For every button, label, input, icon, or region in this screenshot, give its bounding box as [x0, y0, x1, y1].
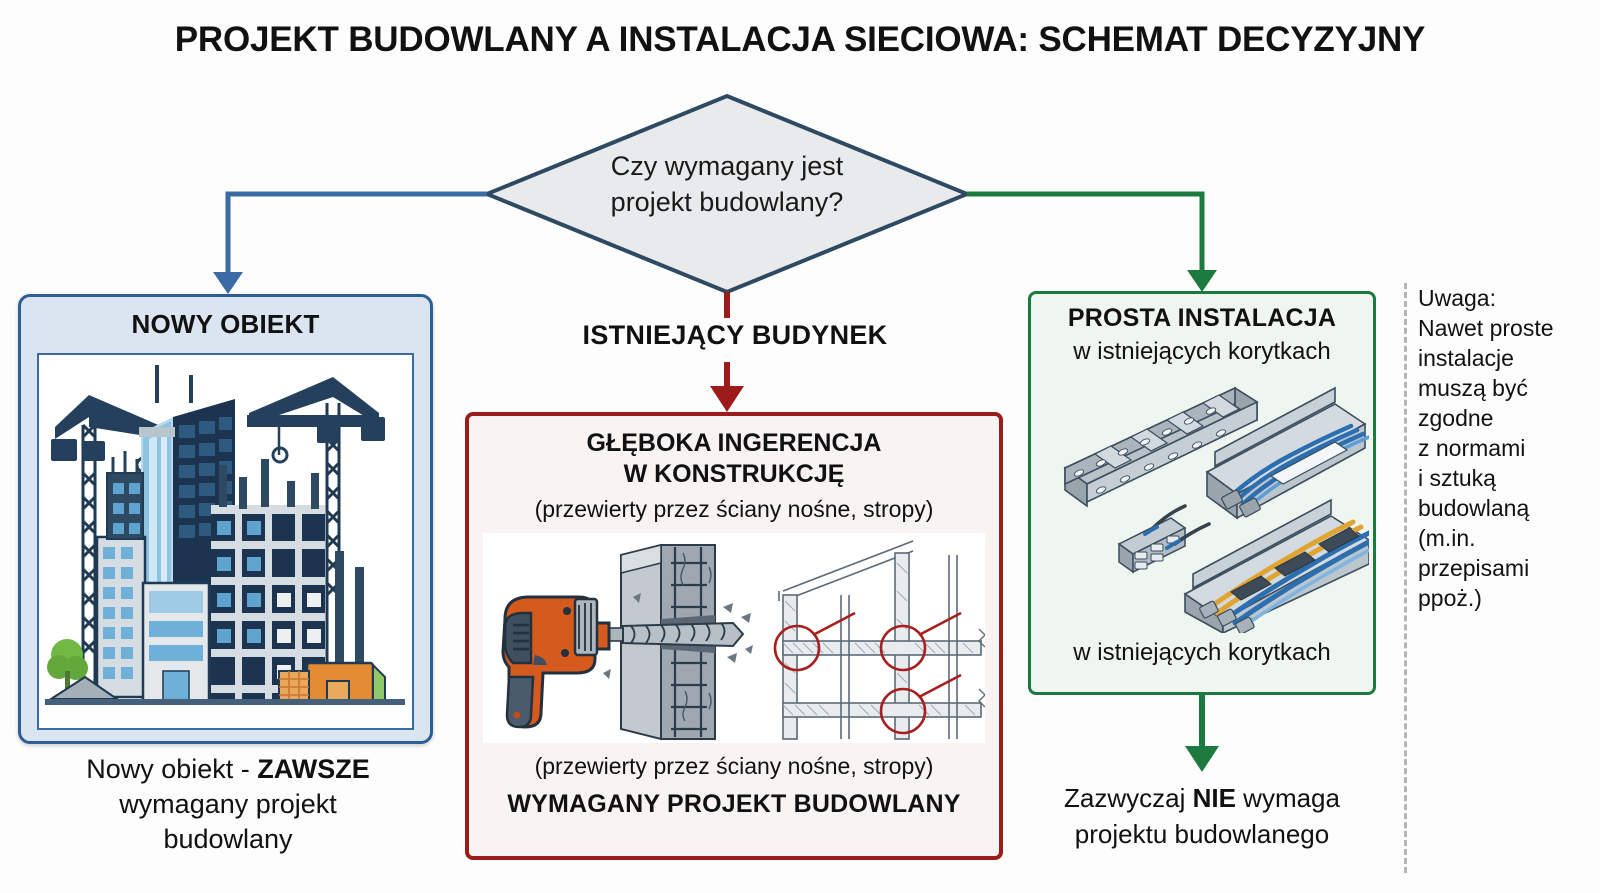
branch-simple-installation-caption: Zazwyczaj NIE wymaga projektu budowlaneg… [1014, 780, 1390, 852]
page-title: PROJEKT BUDOWLANY A INSTALACJA SIECIOWA:… [0, 20, 1600, 60]
green-caption-plain-1: Zazwyczaj [1064, 783, 1193, 813]
caption-text-bold: ZAWSZE [257, 754, 370, 784]
cable-tray-ladder-with-cables-icon [1035, 376, 1369, 633]
decision-question-line2: projekt budowlany? [487, 184, 967, 220]
branch-simple-installation-panel: PROSTA INSTALACJA w istniejących korytka… [1028, 291, 1376, 695]
branch-deep-intervention-verdict: WYMAGANY PROJEKT BUDOWLANY [469, 790, 999, 819]
note-line: budowlaną [1418, 493, 1596, 523]
decision-diamond: Czy wymagany jest projekt budowlany? [487, 96, 967, 292]
note-divider [1404, 283, 1407, 873]
connector-middle-red [710, 292, 744, 412]
branch-deep-intervention-footer-note: (przewierty przez ściany nośne, stropy) [469, 753, 999, 780]
caption-line-2: wymagany projekt [8, 787, 448, 822]
note-block: Uwaga: Nawet proste instalacje muszą być… [1418, 283, 1596, 613]
green-caption-plain-2: wymaga [1236, 783, 1340, 813]
connector-green-to-caption [1185, 695, 1219, 772]
branch-simple-installation-title: PROSTA INSTALACJA [1031, 304, 1373, 333]
note-line: (m.in. [1418, 523, 1596, 553]
note-line: Uwaga: [1418, 283, 1596, 313]
caption-text-plain: Nowy obiekt - [86, 754, 257, 784]
green-caption-line-2: projektu budowlanego [1014, 816, 1390, 852]
note-line: Nawet proste [1418, 313, 1596, 343]
note-line: zgodne [1418, 403, 1596, 433]
branch-deep-intervention-title: GŁĘBOKA INGERENCJA W KONSTRUKCJĘ [469, 428, 999, 490]
construction-site-with-cranes-icon [39, 355, 412, 728]
drilling-illustration-frame [483, 533, 985, 743]
cable-tray-illustration-frame [1035, 376, 1369, 633]
infographic-canvas: PROJEKT BUDOWLANY A INSTALACJA SIECIOWA:… [0, 0, 1600, 893]
hammer-drill-through-concrete-wall-icon [483, 533, 985, 743]
decision-question: Czy wymagany jest projekt budowlany? [487, 148, 967, 220]
red-title-line2: W KONSTRUKCJĘ [469, 459, 999, 490]
construction-site-illustration-frame [37, 353, 414, 730]
branch-simple-installation-footer: w istniejących korytkach [1031, 639, 1373, 667]
branch-new-building-caption: Nowy obiekt - ZAWSZE wymagany projekt bu… [8, 752, 448, 857]
note-line: ppoż.) [1418, 583, 1596, 613]
branch-new-building-title: NOWY OBIEKT [21, 309, 430, 340]
note-line: przepisami [1418, 553, 1596, 583]
branch-new-building-panel: NOWY OBIEKT [18, 294, 433, 744]
connector-left-blue [213, 194, 487, 294]
note-line: i sztuką [1418, 463, 1596, 493]
green-caption-bold: NIE [1193, 783, 1236, 813]
branch-deep-intervention-panel: GŁĘBOKA INGERENCJA W KONSTRUKCJĘ (przewi… [465, 412, 1003, 860]
note-line: muszą być [1418, 373, 1596, 403]
edge-label-existing-building: ISTNIEJĄCY BUDYNEK [455, 320, 1015, 351]
red-title-line1: GŁĘBOKA INGERENCJA [469, 428, 999, 459]
note-line: instalacje [1418, 343, 1596, 373]
branch-simple-installation-subtitle: w istniejących korytkach [1031, 338, 1373, 366]
caption-line-3: budowlany [8, 822, 448, 857]
note-line: z normami [1418, 433, 1596, 463]
connector-right-green [967, 194, 1217, 292]
decision-question-line1: Czy wymagany jest [487, 148, 967, 184]
branch-deep-intervention-subtitle: (przewierty przez ściany nośne, stropy) [469, 496, 999, 523]
